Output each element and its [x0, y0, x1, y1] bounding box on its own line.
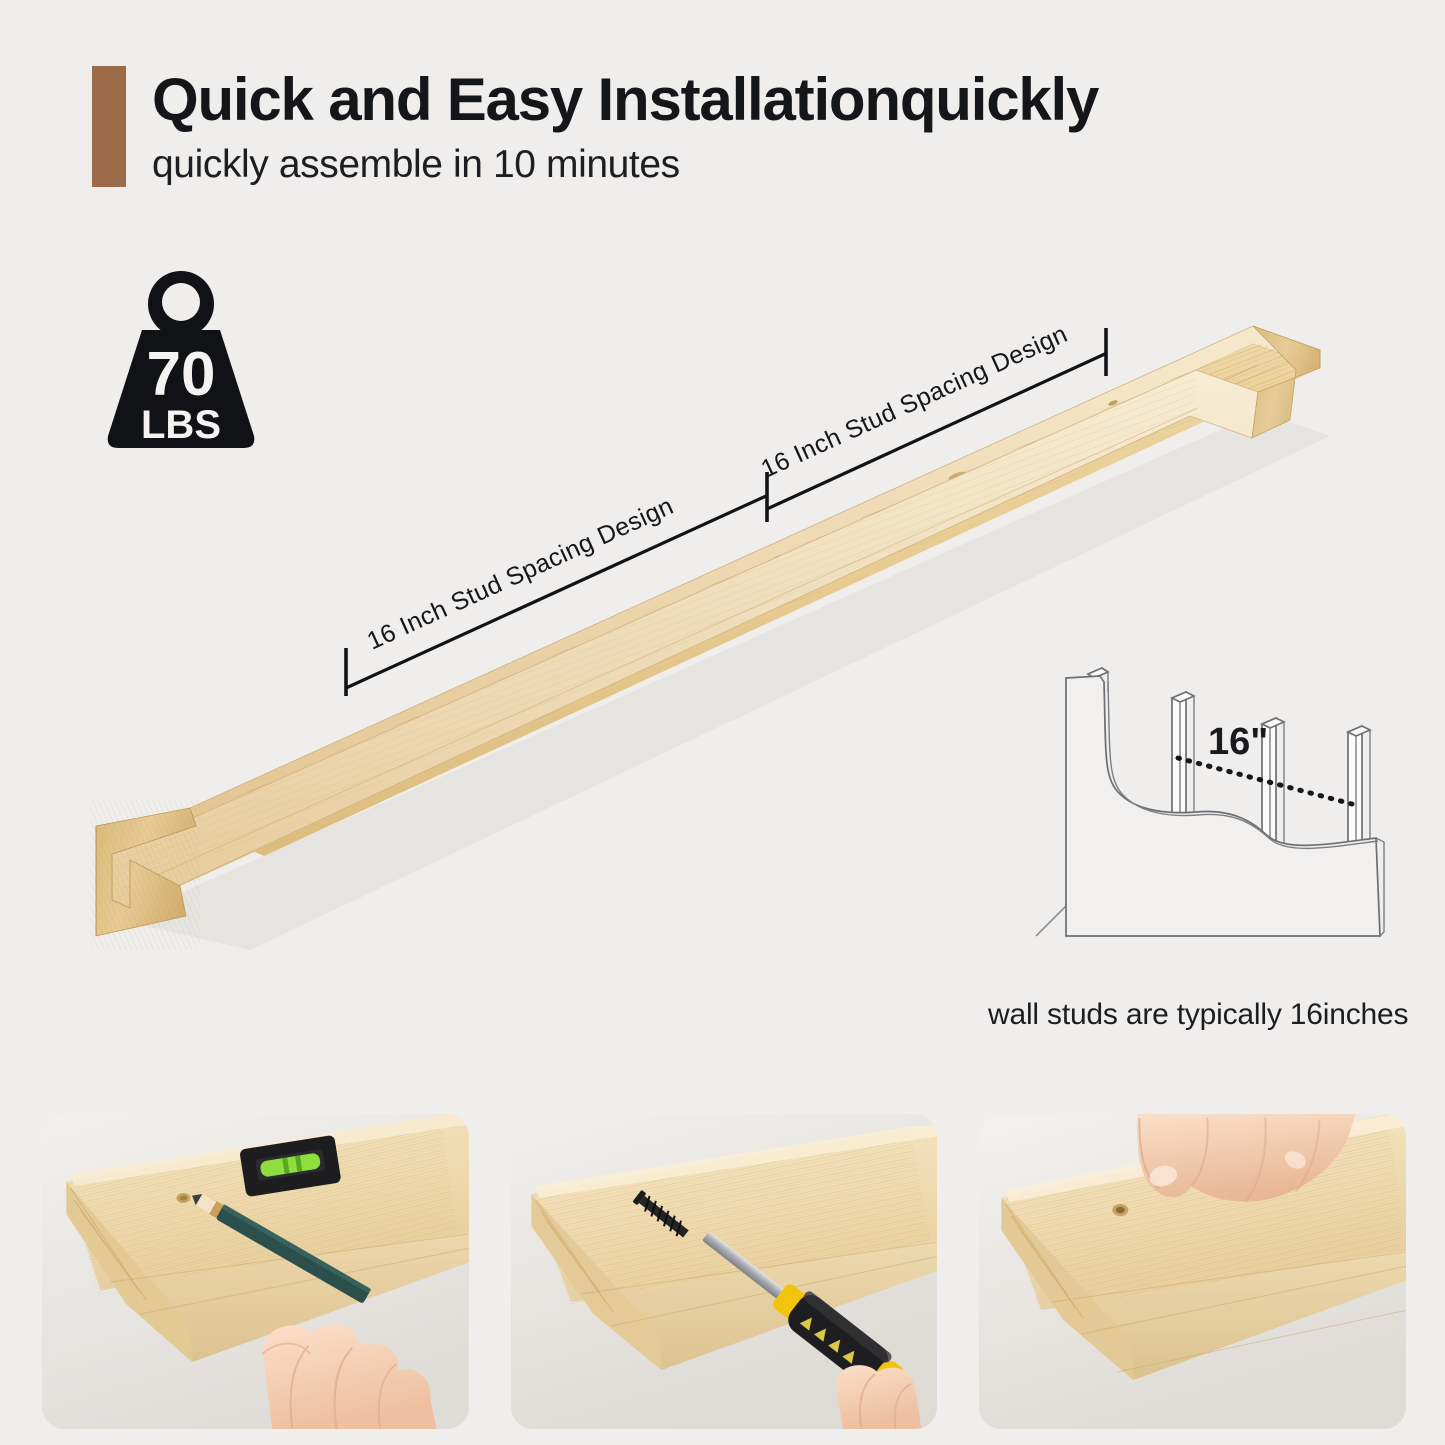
accent-bar — [92, 66, 126, 187]
stud-diagram-caption: wall studs are typically 16inches — [988, 998, 1408, 1032]
stud-3 — [1348, 726, 1370, 858]
step-panel-finish-and-check-shelf — [979, 1114, 1406, 1429]
wall-stud-diagram: 16" — [1000, 636, 1400, 966]
shelf-left-end — [90, 800, 200, 950]
product-infographic: Quick and Easy Installationquickly quick… — [0, 0, 1445, 1445]
header-text-group: Quick and Easy Installationquickly quick… — [152, 66, 1098, 187]
step-panel-drive-screw-with-screwdriver — [511, 1114, 938, 1429]
page-subtitle: quickly assemble in 10 minutes — [152, 143, 1098, 187]
header: Quick and Easy Installationquickly quick… — [92, 66, 1098, 187]
floor-corner-line — [1036, 678, 1066, 936]
drywall-face — [1066, 676, 1384, 936]
hand — [835, 1365, 921, 1429]
step-panel-mark-holes-with-level — [42, 1114, 469, 1429]
page-title: Quick and Easy Installationquickly — [152, 66, 1098, 133]
installation-steps — [42, 1114, 1406, 1429]
dimension-label: 16" — [1208, 721, 1268, 763]
